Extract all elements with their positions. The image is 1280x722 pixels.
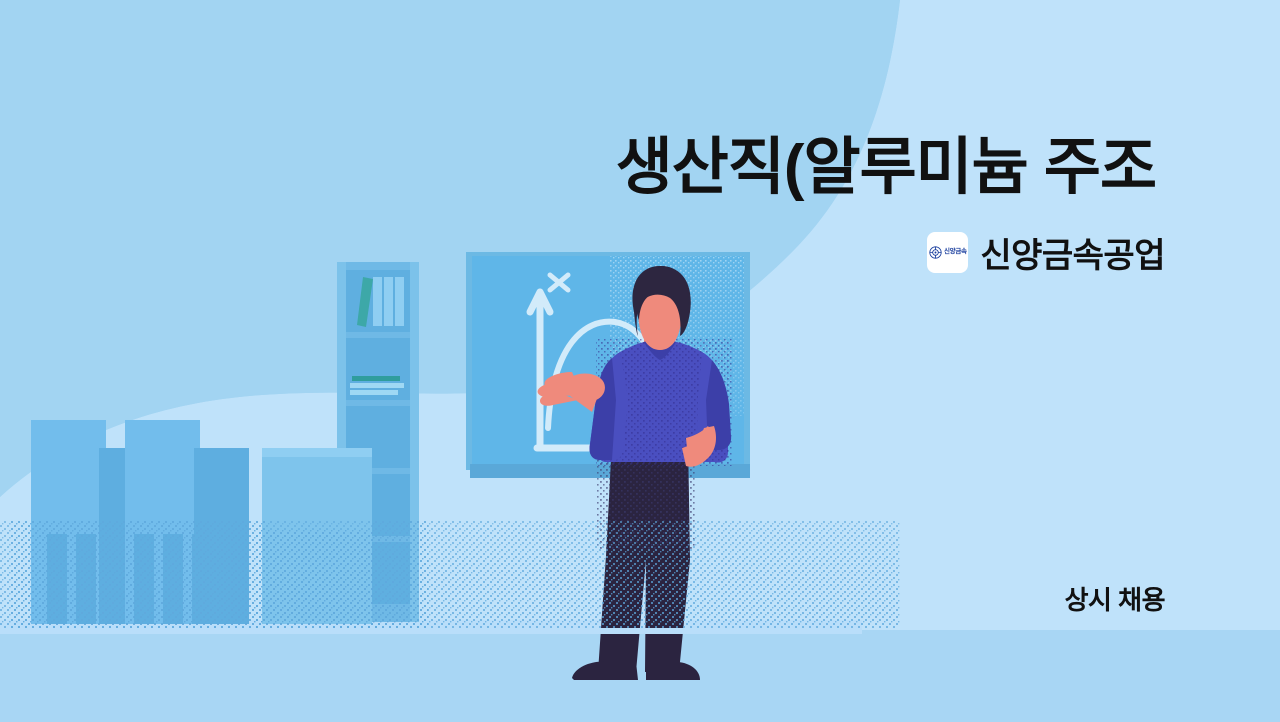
- office-illustration: [0, 0, 1280, 722]
- books-second-shelf: [350, 376, 404, 395]
- floor-edge: [0, 628, 862, 634]
- job-posting-poster: 생산직(알루미늄 주조 신양금속 신양금속공업 상시 채용: [0, 0, 1280, 722]
- foreground-speckle-band-2: [380, 556, 900, 626]
- books-top-shelf: [357, 277, 404, 327]
- floor: [0, 620, 1280, 722]
